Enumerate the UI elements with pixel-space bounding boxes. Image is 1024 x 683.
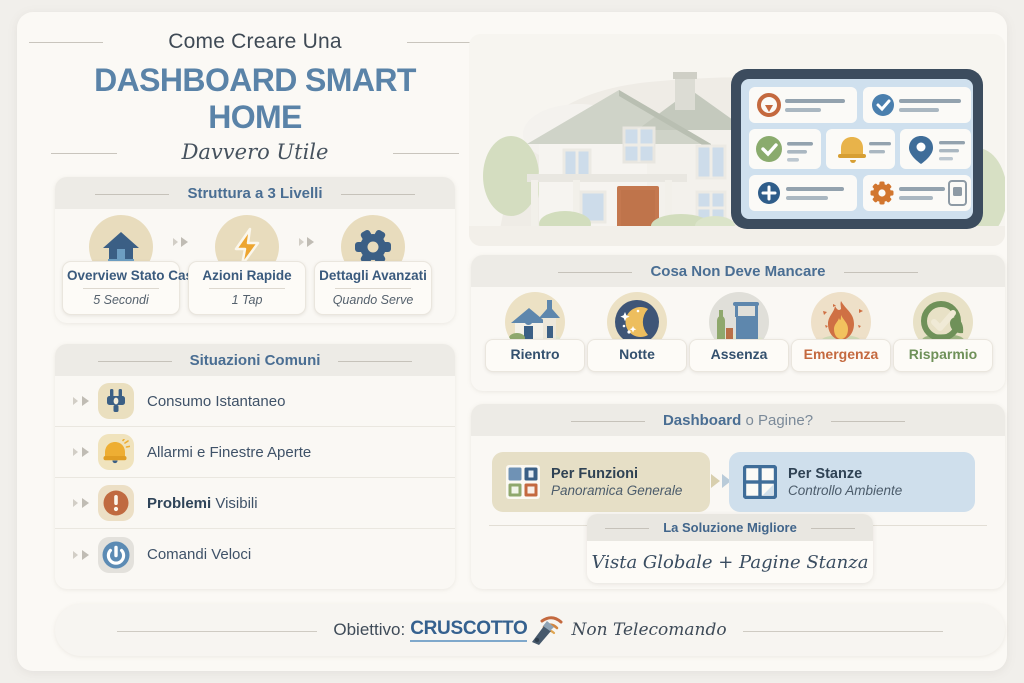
alert-circle-icon	[102, 489, 130, 517]
option-title: Per Stanze	[788, 466, 902, 482]
must-name: Notte	[619, 346, 655, 362]
panel-struttura-3-livelli: Struttura a 3 Livelli	[55, 177, 455, 323]
option-per-stanze[interactable]: Per Stanze Controllo Ambiente	[729, 452, 975, 512]
panel-header: Situazioni Comuni	[55, 344, 455, 376]
chevron-right-icon	[73, 499, 78, 507]
chevron-right-icon	[307, 237, 314, 247]
divider	[335, 288, 411, 289]
panel-title-rest: o Pagine?	[741, 412, 813, 429]
chevron-right-icon	[73, 551, 78, 559]
must-name: Emergenza	[804, 346, 879, 362]
chevron-right-icon	[711, 474, 720, 488]
list-item-label: Allarmi e Finestre Aperte	[147, 444, 311, 461]
option-subtitle: Panoramica Generale	[551, 483, 682, 498]
home-icon	[101, 229, 141, 265]
situations-list: Consumo Istantaneo Allarmi e Finestre Ap…	[55, 376, 455, 580]
footer-content: Obiettivo: CRUSCOTTO Non Telecomando	[333, 615, 726, 645]
icon-badge	[98, 383, 134, 419]
row-arrows	[73, 396, 89, 406]
must-name: Rientro	[511, 346, 560, 362]
row-arrows	[73, 498, 89, 508]
hero-svg	[469, 34, 1005, 246]
icon-badge	[98, 434, 134, 470]
must-name: Risparmio	[909, 346, 977, 362]
musts-body: Rientro	[471, 287, 1005, 391]
power-button-icon	[101, 540, 131, 570]
panel-title-musts: Cosa Non Deve Mancare	[634, 263, 841, 280]
must-item-rientro[interactable]: Rientro	[485, 292, 585, 372]
flashlight-icon	[530, 615, 564, 645]
row-arrows	[73, 550, 89, 560]
option-text: Per Funzioni Panoramica Generale	[551, 466, 682, 498]
chevron-right-icon	[82, 447, 89, 457]
level-card: Dettagli Avanzati Quando Serve	[314, 261, 432, 315]
panel-cosa-non-deve-mancare: Cosa Non Deve Mancare	[471, 255, 1005, 391]
must-item-emergenza[interactable]: Emergenza	[791, 292, 891, 372]
must-card: Rientro	[485, 339, 585, 372]
panel-title-situations: Situazioni Comuni	[174, 352, 337, 369]
must-item-notte[interactable]: Notte	[587, 292, 687, 372]
must-card: Notte	[587, 339, 687, 372]
page-title: DASHBOARD SMART HOME	[45, 62, 465, 136]
window-pane-icon	[743, 465, 777, 499]
level-card: Overview Stato Casa 5 Secondi	[62, 261, 180, 315]
power-plug-icon	[104, 388, 128, 414]
list-item[interactable]: Consumo Istantaneo	[55, 376, 455, 427]
list-item-label: Comandi Veloci	[147, 546, 251, 563]
panel-header: Dashboard o Pagine?	[471, 404, 1005, 436]
grid-tiles-icon	[506, 465, 540, 499]
level-card: Azioni Rapide 1 Tap	[188, 261, 306, 315]
option-subtitle: Controllo Ambiente	[788, 483, 902, 498]
list-item[interactable]: Problemi Visibili	[55, 478, 455, 529]
choice-body: Per Funzioni Panoramica Generale	[471, 436, 1005, 589]
title-kicker: Come Creare Una	[45, 30, 465, 54]
must-name: Assenza	[711, 346, 768, 362]
panel-title-choice: Dashboard o Pagine?	[647, 412, 829, 429]
footer-suffix: Non Telecomando	[571, 620, 726, 640]
option-arrow	[711, 474, 731, 488]
best-solution-card: La Soluzione Migliore Vista Globale + Pa…	[587, 514, 873, 583]
list-item[interactable]: Allarmi e Finestre Aperte	[55, 427, 455, 478]
panel-dashboard-o-pagine: Dashboard o Pagine?	[471, 404, 1005, 589]
icon-badge	[98, 537, 134, 573]
option-title: Per Funzioni	[551, 466, 682, 482]
level-name: Overview Stato Casa	[67, 268, 175, 283]
infographic-canvas: Come Creare Una DASHBOARD SMART HOME Dav…	[0, 0, 1024, 683]
level-name: Dettagli Avanzati	[319, 268, 427, 283]
level-item-dettagli[interactable]: Dettagli Avanzati Quando Serve	[314, 215, 432, 315]
tablet-device	[731, 69, 983, 229]
best-solution-value: Vista Globale + Pagine Stanza	[587, 541, 873, 583]
level-sub: Quando Serve	[319, 293, 427, 307]
best-solution-title: La Soluzione Migliore	[651, 520, 809, 535]
level-sub: 5 Secondi	[67, 293, 175, 307]
panel-title-bold: Dashboard	[663, 412, 741, 429]
option-per-funzioni[interactable]: Per Funzioni Panoramica Generale	[492, 452, 710, 512]
chevron-right-icon	[73, 448, 78, 456]
panel-situazioni-comuni: Situazioni Comuni Consumo Ist	[55, 344, 455, 589]
poster-card: Come Creare Una DASHBOARD SMART HOME Dav…	[17, 12, 1007, 671]
level-name: Azioni Rapide	[193, 268, 301, 283]
list-item-label: Problemi Visibili	[147, 495, 258, 512]
must-card: Emergenza	[791, 339, 891, 372]
levels-body: Overview Stato Casa 5 Secondi Azioni Rap…	[55, 209, 455, 323]
panel-header: Struttura a 3 Livelli	[55, 177, 455, 209]
chevron-right-icon	[181, 237, 188, 247]
footer-prefix: Obiettivo:	[333, 620, 405, 640]
footer-banner: Obiettivo: CRUSCOTTO Non Telecomando	[55, 604, 1005, 656]
title-subtitle: Davvero Utile	[45, 140, 465, 164]
page-title-block: Come Creare Una DASHBOARD SMART HOME Dav…	[45, 30, 465, 164]
divider	[83, 288, 159, 289]
panel-header: Cosa Non Deve Mancare	[471, 255, 1005, 287]
list-item-label-rest: Visibili	[211, 495, 257, 512]
divider	[209, 288, 285, 289]
must-card: Assenza	[689, 339, 789, 372]
list-item[interactable]: Comandi Veloci	[55, 529, 455, 580]
level-item-azioni[interactable]: Azioni Rapide 1 Tap	[188, 215, 306, 315]
must-item-risparmio[interactable]: Risparmio	[893, 292, 993, 372]
chevron-right-icon	[73, 397, 78, 405]
list-item-label: Consumo Istantaneo	[147, 393, 285, 410]
level-sub: 1 Tap	[193, 293, 301, 307]
hero-illustration	[469, 34, 1005, 246]
list-item-label-bold: Problemi	[147, 495, 211, 512]
row-arrows	[73, 447, 89, 457]
chevron-right-icon	[82, 550, 89, 560]
panel-title-levels: Struttura a 3 Livelli	[171, 185, 338, 202]
must-card: Risparmio	[893, 339, 993, 372]
level-item-overview[interactable]: Overview Stato Casa 5 Secondi	[62, 215, 180, 315]
icon-badge	[98, 485, 134, 521]
best-solution-header: La Soluzione Migliore	[587, 514, 873, 541]
alarm-bell-icon	[103, 439, 130, 465]
chevron-right-icon	[82, 396, 89, 406]
footer-keyword: CRUSCOTTO	[410, 618, 527, 642]
must-item-assenza[interactable]: Assenza	[689, 292, 789, 372]
option-text: Per Stanze Controllo Ambiente	[788, 466, 902, 498]
chevron-right-icon	[82, 498, 89, 508]
